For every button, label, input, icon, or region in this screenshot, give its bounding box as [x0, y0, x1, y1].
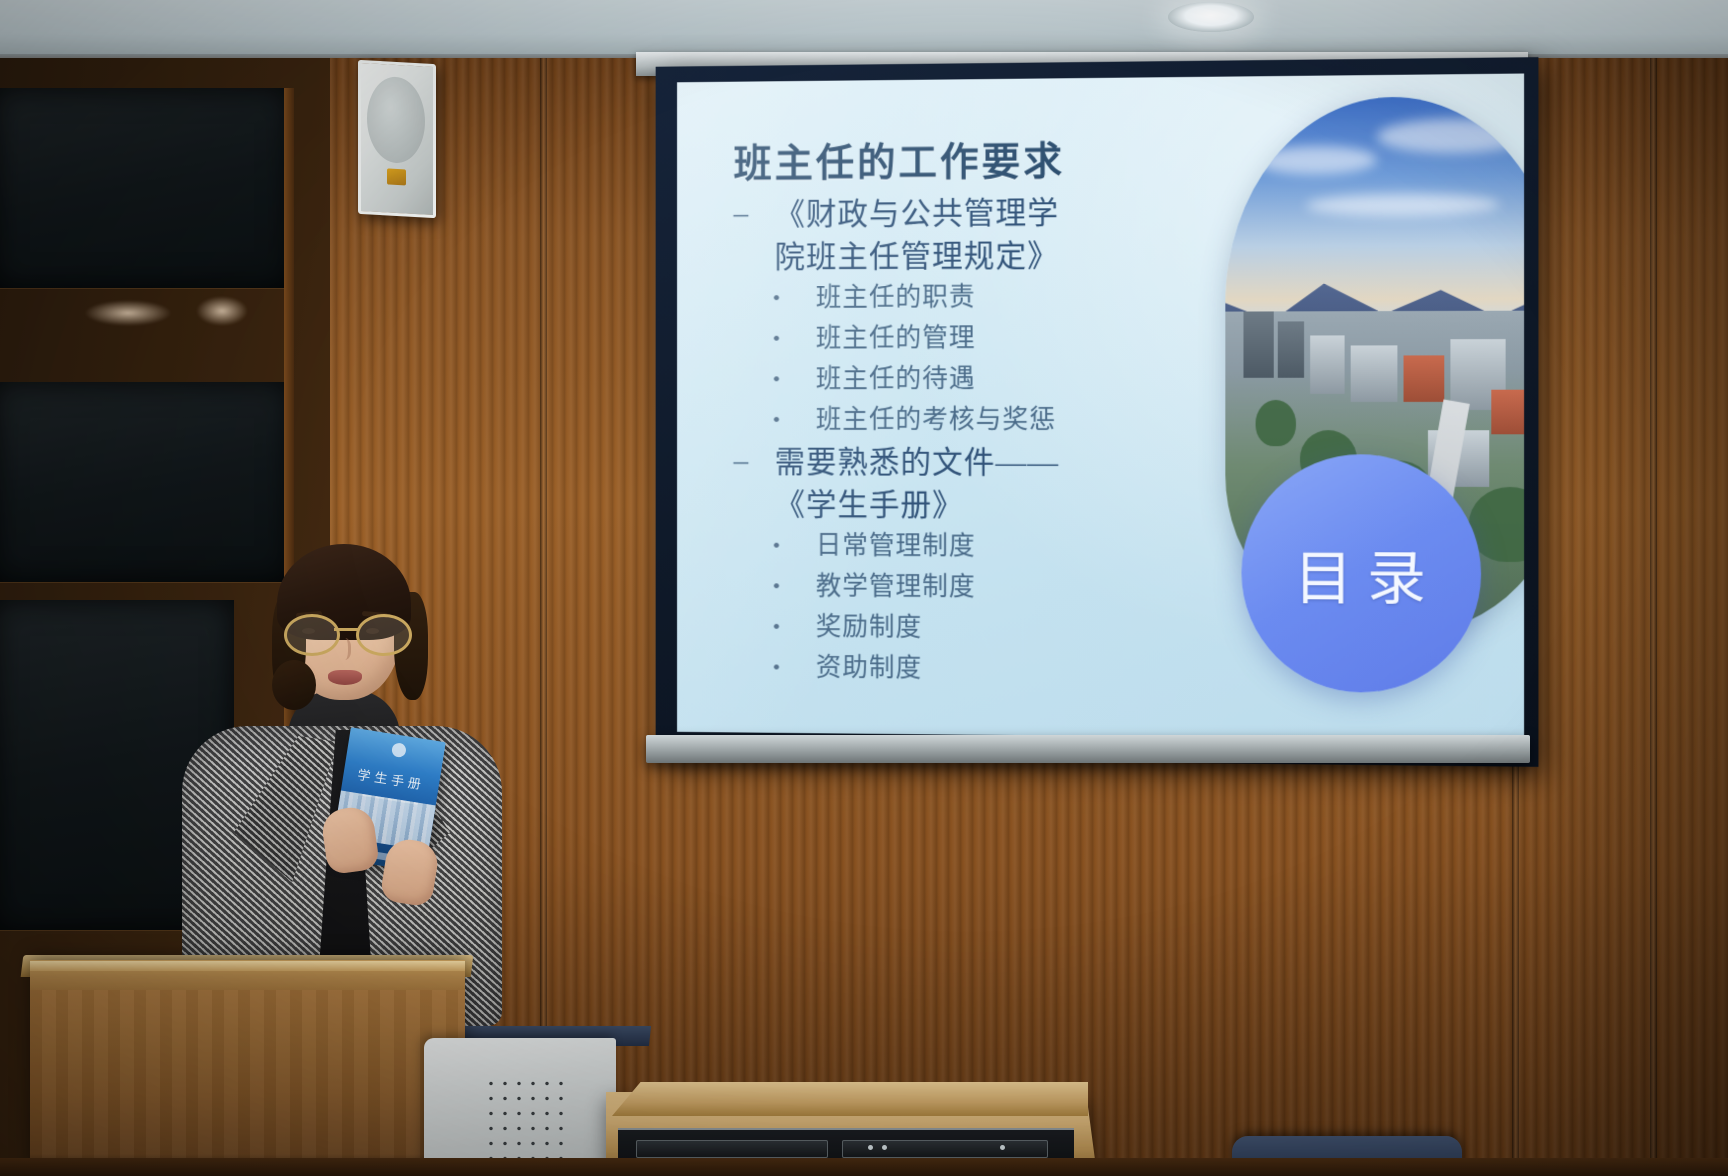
- bullet-text: 教学管理制度: [816, 567, 976, 608]
- hair-bun: [272, 660, 316, 710]
- wall-baseboard: [0, 1158, 1728, 1176]
- photo-building: [1243, 311, 1273, 377]
- slide-bullet: • 日常管理制度: [773, 526, 1178, 568]
- rack-indicator-led: [868, 1145, 873, 1150]
- level1-heading-line: 院班主任管理规定》: [775, 235, 1059, 277]
- wall-scuff: [196, 296, 248, 326]
- slide-bullet: • 教学管理制度: [773, 566, 1178, 608]
- slide-level1-line: – 需要熟悉的文件——: [734, 442, 1179, 484]
- bullet-glyph: •: [773, 278, 816, 318]
- level1-heading-line: 《学生手册》: [775, 484, 964, 525]
- coat-lapel: [234, 736, 338, 882]
- lectern-speaker-box: [424, 1038, 616, 1176]
- booklet-title: 学生手册: [352, 766, 430, 794]
- lecture-hall-scene: 目录 班主任的工作要求 – 《财政与公共管理学 院班主任管理规定》 • 班主任的…: [0, 0, 1728, 1176]
- slide-bullet: • 班主任的职责: [773, 277, 1178, 318]
- photo-building: [1491, 390, 1524, 435]
- slide-bullet: • 资助制度: [773, 648, 1178, 691]
- lectern-ledge: [30, 961, 465, 971]
- slide-level1-line: 《学生手册》: [734, 484, 1179, 526]
- level1-dash-marker: –: [734, 194, 775, 234]
- bullet-glyph: •: [773, 566, 816, 606]
- slide-bullet: • 班主任的考核与奖惩: [773, 400, 1178, 440]
- photo-building: [1310, 335, 1344, 393]
- speaker-badge: [387, 168, 406, 185]
- wall-scuff: [84, 300, 172, 326]
- glasses-lens: [284, 614, 340, 656]
- nose: [336, 638, 351, 660]
- projection-screen: 目录 班主任的工作要求 – 《财政与公共管理学 院班主任管理规定》 • 班主任的…: [656, 57, 1539, 767]
- rack-unit: [842, 1140, 1048, 1158]
- bullet-glyph: •: [773, 359, 816, 399]
- wooden-lectern: [30, 960, 465, 1176]
- level1-heading-line: 需要熟悉的文件——: [775, 442, 1059, 483]
- presentation-slide: 目录 班主任的工作要求 – 《财政与公共管理学 院班主任管理规定》 • 班主任的…: [677, 74, 1524, 741]
- booklet-logo-icon: [391, 742, 407, 758]
- photo-building: [1351, 345, 1398, 402]
- toc-circle-label: 目录: [1282, 531, 1440, 616]
- bullet-glyph: •: [773, 526, 816, 566]
- level1-dash-marker: –: [734, 442, 775, 482]
- slide-level1-line: 院班主任管理规定》: [734, 235, 1179, 278]
- slide-text-column: 班主任的工作要求 – 《财政与公共管理学 院班主任管理规定》 • 班主任的职责 …: [728, 129, 1178, 691]
- bullet-text: 班主任的待遇: [816, 359, 976, 399]
- rack-unit: [636, 1140, 828, 1158]
- bullet-glyph: •: [773, 400, 816, 440]
- slide-bullet: • 奖励制度: [773, 607, 1178, 650]
- photo-cloud: [1377, 118, 1524, 154]
- bullet-text: 班主任的考核与奖惩: [816, 400, 1056, 440]
- bullet-text: 班主任的职责: [816, 277, 976, 317]
- photo-building: [1404, 355, 1445, 402]
- toc-circle-badge: 目录: [1241, 454, 1481, 693]
- bullet-text: 资助制度: [816, 648, 922, 689]
- bullet-glyph: •: [773, 607, 816, 647]
- photo-building: [1278, 321, 1304, 377]
- glasses-lens: [356, 614, 412, 656]
- dark-acoustic-panel: [0, 88, 290, 288]
- rack-indicator-led: [882, 1145, 887, 1150]
- bullet-text: 奖励制度: [816, 607, 922, 647]
- wall-mounted-speaker: [358, 60, 436, 218]
- bullet-glyph: •: [773, 319, 816, 359]
- level1-heading-line: 《财政与公共管理学: [775, 192, 1059, 235]
- glasses-bridge: [334, 628, 358, 631]
- slide-bullet: • 班主任的管理: [773, 318, 1178, 359]
- mouth: [328, 670, 362, 685]
- slide-level1-line: – 《财政与公共管理学: [734, 191, 1179, 235]
- wall-trim-line: [540, 58, 547, 1158]
- bullet-text: 班主任的管理: [816, 318, 976, 358]
- screen-bottom-bar: [646, 735, 1530, 763]
- recessed-downlight-icon: [1168, 2, 1254, 32]
- bullet-glyph: •: [773, 648, 816, 688]
- slide-title: 班主任的工作要求: [734, 129, 1179, 188]
- rack-indicator-led: [1000, 1145, 1005, 1150]
- lectern-front-panel: [30, 990, 465, 1176]
- photo-tree: [1256, 400, 1296, 446]
- equipment-desk-top: [612, 1082, 1088, 1116]
- presenter: 学生手册: [176, 540, 506, 1010]
- bullet-text: 日常管理制度: [816, 526, 976, 566]
- slide-bullet: • 班主任的待遇: [773, 359, 1178, 399]
- speaker-cone-icon: [367, 75, 425, 164]
